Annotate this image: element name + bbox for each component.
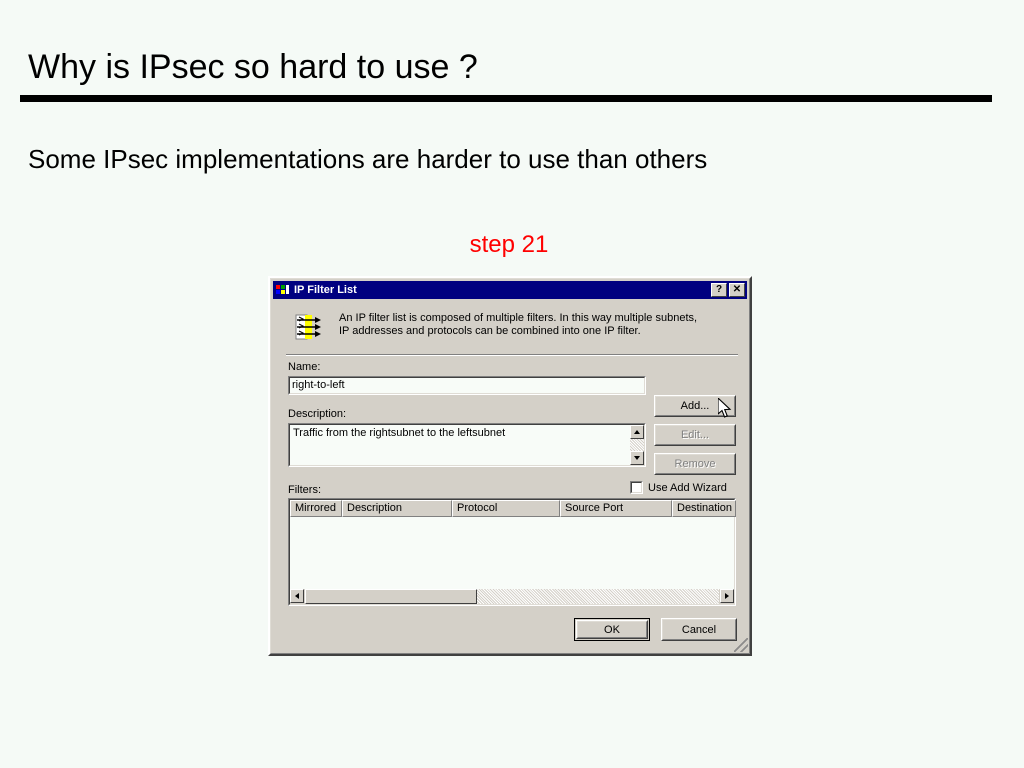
description-label: Description: bbox=[288, 408, 346, 420]
add-button-label: Add... bbox=[655, 396, 735, 416]
ok-button[interactable]: OK bbox=[574, 618, 650, 641]
triangle-up-icon[interactable] bbox=[630, 425, 644, 439]
title-divider bbox=[20, 95, 992, 102]
ip-filter-list-dialog: IP Filter List ? ✕ bbox=[268, 276, 752, 656]
description-value: Traffic from the rightsubnet to the left… bbox=[293, 427, 621, 440]
edit-button[interactable]: Edit... bbox=[654, 424, 736, 446]
use-add-wizard-checkbox-row[interactable]: Use Add Wizard bbox=[630, 481, 727, 494]
cancel-button-label: Cancel bbox=[662, 619, 736, 640]
dialog-title: IP Filter List bbox=[294, 281, 357, 299]
filters-list[interactable]: Mirrored Description Protocol Source Por… bbox=[288, 498, 736, 606]
column-header-mirrored[interactable]: Mirrored bbox=[290, 500, 342, 517]
remove-button[interactable]: Remove bbox=[654, 453, 736, 475]
step-caption: step 21 bbox=[0, 231, 1024, 259]
remove-button-label: Remove bbox=[655, 454, 735, 474]
triangle-right-icon[interactable] bbox=[720, 589, 734, 603]
description-vertical-scrollbar[interactable] bbox=[630, 425, 644, 465]
slide-subtitle: Some IPsec implementations are harder to… bbox=[28, 144, 707, 175]
banner-separator bbox=[286, 354, 738, 356]
filters-list-body[interactable] bbox=[290, 517, 734, 588]
ok-button-label: OK bbox=[577, 621, 647, 638]
column-header-source-port[interactable]: Source Port bbox=[560, 500, 672, 517]
close-icon[interactable]: ✕ bbox=[729, 283, 745, 297]
dialog-titlebar[interactable]: IP Filter List ? ✕ bbox=[273, 281, 747, 299]
add-button[interactable]: Add... bbox=[654, 395, 736, 417]
filters-list-header: Mirrored Description Protocol Source Por… bbox=[290, 500, 734, 517]
name-label: Name: bbox=[288, 361, 320, 373]
ip-filter-list-icon bbox=[275, 283, 291, 297]
column-header-destination[interactable]: Destination bbox=[672, 500, 736, 517]
filters-label: Filters: bbox=[288, 484, 321, 496]
use-add-wizard-checkbox[interactable] bbox=[630, 481, 643, 494]
titlebar-button-group: ? ✕ bbox=[711, 283, 745, 297]
name-input-value: right-to-left bbox=[292, 379, 345, 391]
triangle-down-icon[interactable] bbox=[630, 451, 644, 465]
resize-grip-icon[interactable] bbox=[734, 638, 748, 652]
column-header-protocol[interactable]: Protocol bbox=[452, 500, 560, 517]
dialog-banner-text: An IP filter list is composed of multipl… bbox=[339, 308, 709, 350]
column-header-description[interactable]: Description bbox=[342, 500, 452, 517]
name-input[interactable]: right-to-left bbox=[288, 376, 646, 395]
step-caption-text: step 21 bbox=[470, 231, 549, 258]
filters-horizontal-scrollbar[interactable] bbox=[290, 589, 734, 604]
use-add-wizard-label: Use Add Wizard bbox=[648, 482, 727, 494]
description-scroll-track[interactable] bbox=[630, 439, 644, 451]
description-textarea[interactable]: Traffic from the rightsubnet to the left… bbox=[288, 423, 646, 467]
filters-scroll-thumb[interactable] bbox=[305, 589, 477, 604]
dialog-banner: An IP filter list is composed of multipl… bbox=[284, 308, 736, 350]
edit-button-label: Edit... bbox=[655, 425, 735, 445]
help-button[interactable]: ? bbox=[711, 283, 727, 297]
cancel-button[interactable]: Cancel bbox=[661, 618, 737, 641]
page-title: Why is IPsec so hard to use ? bbox=[28, 48, 478, 87]
triangle-left-icon[interactable] bbox=[290, 589, 304, 603]
filter-arrows-icon bbox=[293, 311, 325, 343]
